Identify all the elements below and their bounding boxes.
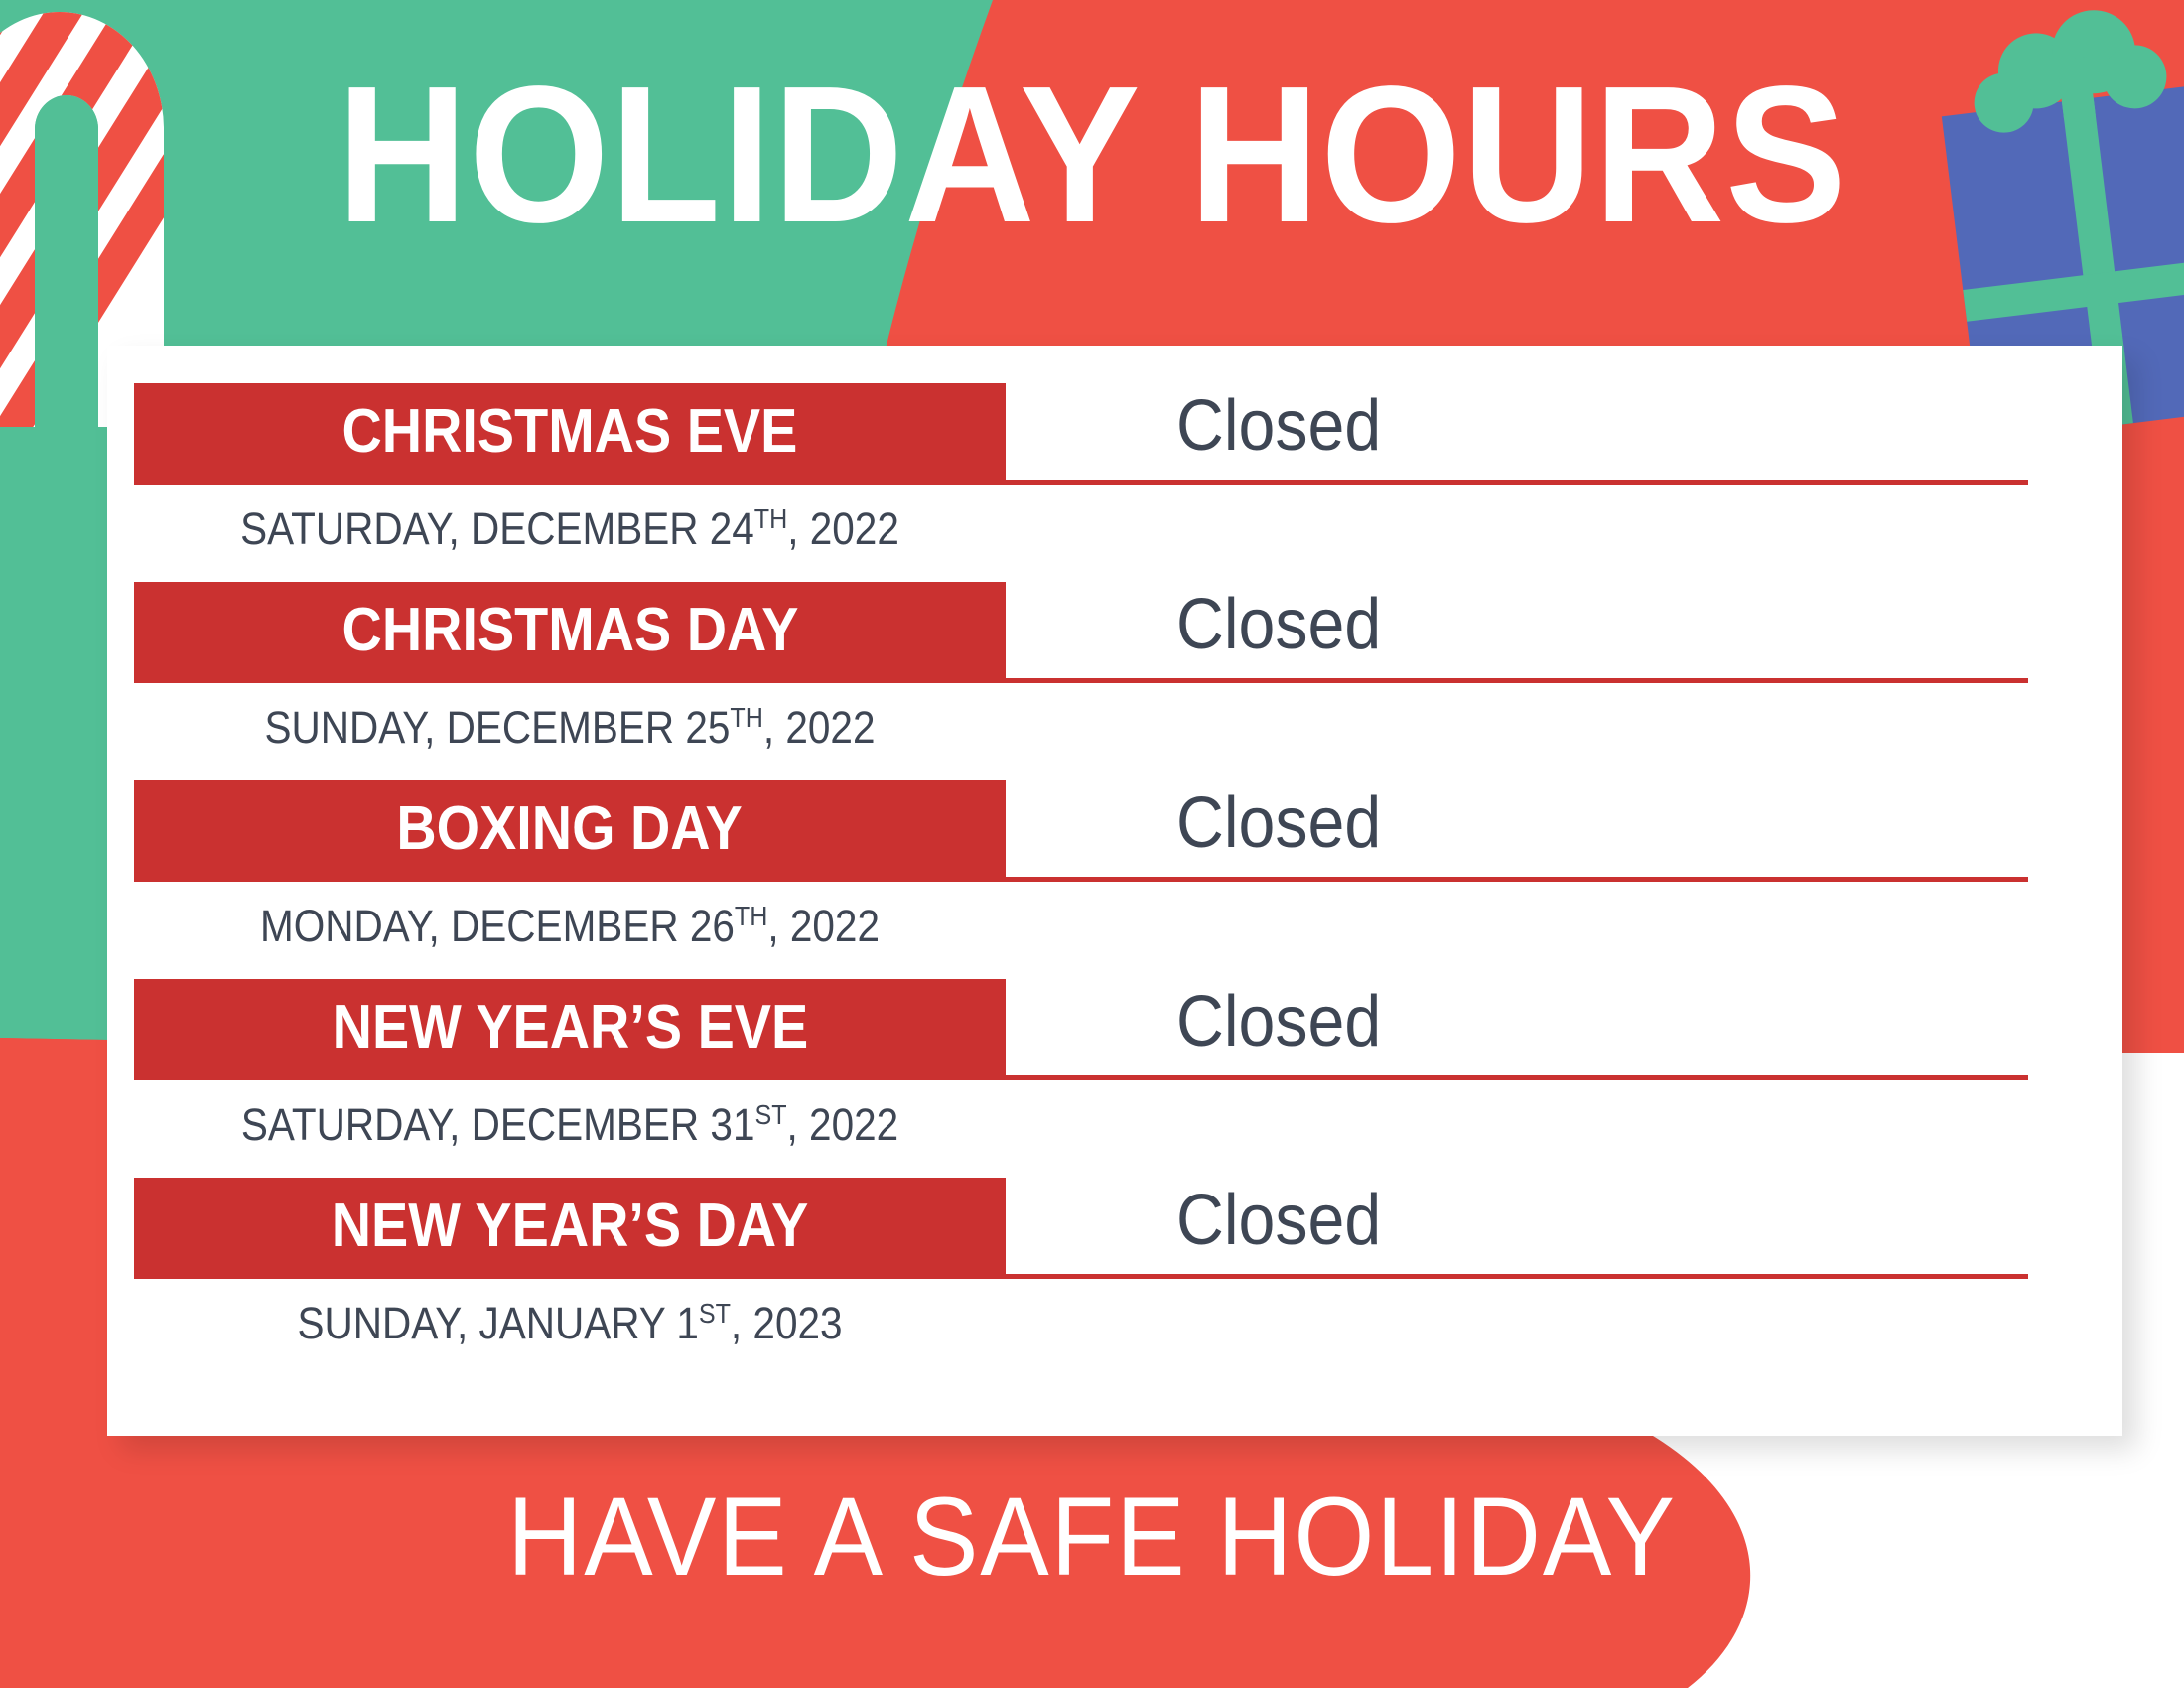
date-ordinal: TH bbox=[735, 901, 767, 931]
status-value: Closed bbox=[1176, 1170, 1381, 1271]
date-suffix: , 2022 bbox=[787, 503, 899, 554]
status-value: Closed bbox=[1176, 773, 1381, 874]
holiday-date: SUNDAY, JANUARY 1ST, 2023 bbox=[178, 1281, 962, 1356]
holiday-date: SATURDAY, DECEMBER 24TH, 2022 bbox=[178, 487, 962, 562]
date-prefix: SATURDAY, DECEMBER 31 bbox=[241, 1099, 755, 1150]
table-row: CHRISTMAS DAY SUNDAY, DECEMBER 25TH, 202… bbox=[107, 582, 2122, 788]
row-rule bbox=[1006, 678, 2028, 683]
date-ordinal: TH bbox=[754, 503, 787, 534]
row-rule bbox=[1006, 480, 2028, 485]
date-prefix: SATURDAY, DECEMBER 24 bbox=[240, 503, 754, 554]
table-row: CHRISTMAS EVE SATURDAY, DECEMBER 24TH, 2… bbox=[107, 383, 2122, 590]
holiday-name: NEW YEAR’S DAY bbox=[332, 1196, 809, 1261]
holiday-date: MONDAY, DECEMBER 26TH, 2022 bbox=[178, 884, 962, 959]
date-suffix: , 2022 bbox=[763, 702, 876, 753]
date-suffix: , 2023 bbox=[731, 1298, 843, 1348]
row-rule bbox=[1006, 1075, 2028, 1080]
holiday-date: SATURDAY, DECEMBER 31ST, 2022 bbox=[178, 1082, 962, 1158]
date-suffix: , 2022 bbox=[767, 901, 880, 951]
date-prefix: SUNDAY, JANUARY 1 bbox=[297, 1298, 698, 1348]
date-prefix: MONDAY, DECEMBER 26 bbox=[260, 901, 735, 951]
date-ordinal: ST bbox=[754, 1099, 786, 1130]
date-prefix: SUNDAY, DECEMBER 25 bbox=[265, 702, 731, 753]
holiday-banner: CHRISTMAS DAY bbox=[134, 582, 1006, 683]
holiday-name: CHRISTMAS DAY bbox=[341, 600, 798, 665]
holiday-banner: NEW YEAR’S EVE bbox=[134, 979, 1006, 1080]
holiday-banner: CHRISTMAS EVE bbox=[134, 383, 1006, 485]
status-value: Closed bbox=[1176, 375, 1381, 477]
table-row: BOXING DAY MONDAY, DECEMBER 26TH, 2022 C… bbox=[107, 780, 2122, 987]
holiday-name: NEW YEAR’S EVE bbox=[332, 997, 808, 1062]
date-ordinal: ST bbox=[699, 1298, 731, 1329]
holiday-name: CHRISTMAS EVE bbox=[342, 401, 798, 467]
page-title: HOLIDAY HOURS bbox=[76, 58, 2108, 252]
row-rule bbox=[1006, 1274, 2028, 1279]
holiday-banner: NEW YEAR’S DAY bbox=[134, 1178, 1006, 1279]
holiday-date: SUNDAY, DECEMBER 25TH, 2022 bbox=[178, 685, 962, 761]
date-suffix: , 2022 bbox=[787, 1099, 899, 1150]
hours-card: CHRISTMAS EVE SATURDAY, DECEMBER 24TH, 2… bbox=[107, 346, 2122, 1436]
holiday-banner: BOXING DAY bbox=[134, 780, 1006, 882]
table-row: NEW YEAR’S EVE SATURDAY, DECEMBER 31ST, … bbox=[107, 979, 2122, 1186]
holiday-name: BOXING DAY bbox=[397, 798, 743, 864]
status-value: Closed bbox=[1176, 574, 1381, 675]
date-ordinal: TH bbox=[730, 702, 762, 733]
footer-message: HAVE A SAFE HOLIDAY bbox=[76, 1481, 2108, 1593]
table-row: NEW YEAR’S DAY SUNDAY, JANUARY 1ST, 2023… bbox=[107, 1178, 2122, 1384]
status-value: Closed bbox=[1176, 971, 1381, 1072]
row-rule bbox=[1006, 877, 2028, 882]
